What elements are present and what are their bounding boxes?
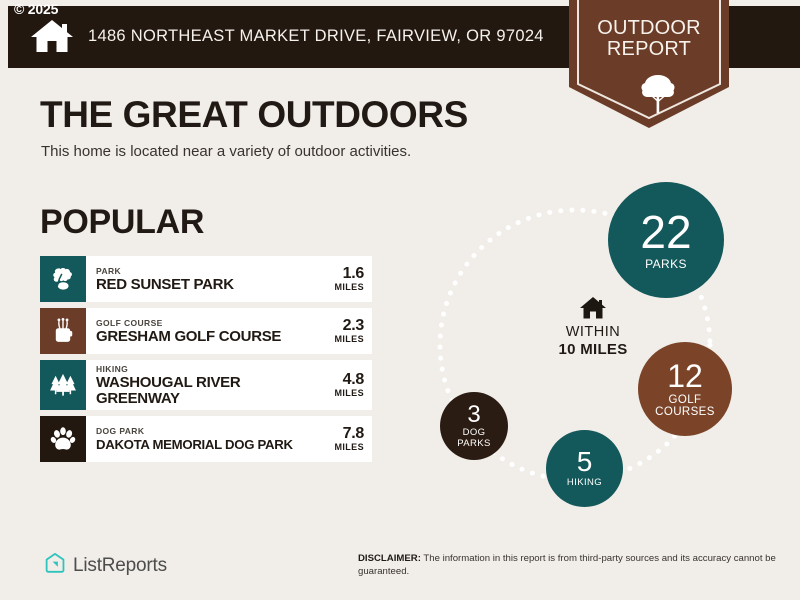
golf-bag-icon	[40, 308, 86, 354]
paw-print-icon	[40, 416, 86, 462]
outdoor-report-page: © 2025 1486 NORTHEAST MARKET DRIVE, FAIR…	[0, 0, 800, 600]
bubble-label: DOG PARKS	[457, 428, 491, 449]
list-item-distance: 4.8 MILES	[314, 360, 372, 410]
bubble-count: 22	[640, 209, 691, 255]
bubble-parks[interactable]: 22 PARKS	[608, 182, 724, 298]
list-item-distance: 1.6 MILES	[314, 256, 372, 302]
diagram-center-label: WITHIN 10 MILES	[528, 296, 658, 358]
badge-title-line1: OUTDOOR	[569, 18, 729, 39]
listreports-logo-icon	[44, 552, 66, 579]
property-address: 1486 NORTHEAST MARKET DRIVE, FAIRVIEW, O…	[88, 27, 544, 46]
house-icon	[579, 296, 607, 320]
bubble-label-line1: DOG	[457, 428, 491, 438]
distance-value: 4.8	[343, 371, 364, 388]
bubble-hiking[interactable]: 5 HIKING	[546, 430, 623, 507]
park-icon	[40, 256, 86, 302]
list-item-category: DOG PARK	[96, 426, 314, 437]
distance-unit: MILES	[334, 282, 364, 293]
distance-value: 7.8	[343, 425, 364, 442]
listreports-logo[interactable]: ListReports	[44, 552, 167, 579]
bubble-label: PARKS	[645, 258, 687, 271]
disclaimer: DISCLAIMER: The information in this repo…	[358, 553, 778, 578]
popular-list: PARK RED SUNSET PARK 1.6 MILES	[40, 256, 372, 468]
bubble-count: 12	[667, 360, 703, 392]
bubble-count: 5	[577, 448, 593, 476]
list-item-text: HIKING WASHOUGAL RIVER GREENWAY	[86, 360, 314, 410]
distance-value: 2.3	[343, 317, 364, 334]
distance-unit: MILES	[334, 334, 364, 345]
list-item[interactable]: DOG PARK DAKOTA MEMORIAL DOG PARK 7.8 MI…	[40, 416, 372, 462]
list-item-text: GOLF COURSE GRESHAM GOLF COURSE	[86, 308, 314, 354]
pine-trees-icon	[40, 360, 86, 410]
listreports-logo-text: ListReports	[73, 555, 167, 577]
bubble-dog-parks[interactable]: 3 DOG PARKS	[440, 392, 508, 460]
bubble-label-line2: PARKS	[457, 439, 491, 449]
distance-unit: MILES	[334, 388, 364, 399]
list-item-name: GRESHAM GOLF COURSE	[96, 329, 314, 345]
list-item[interactable]: PARK RED SUNSET PARK 1.6 MILES	[40, 256, 372, 302]
distance-value: 1.6	[343, 265, 364, 282]
tree-icon	[640, 74, 676, 114]
page-title: THE GREAT OUTDOORS	[40, 94, 468, 136]
disclaimer-label: DISCLAIMER:	[358, 553, 421, 564]
badge-title-line2: REPORT	[569, 39, 729, 60]
house-icon	[30, 18, 74, 54]
badge-title: OUTDOOR REPORT	[569, 18, 729, 60]
bubble-label: HIKING	[567, 478, 602, 488]
center-label-line2: 10 MILES	[528, 341, 658, 358]
list-item-distance: 7.8 MILES	[314, 416, 372, 462]
within-10-miles-diagram: 22 PARKS 12 GOLF COURSES 5 HIKING 3 DOG …	[420, 165, 790, 520]
section-title-popular: POPULAR	[40, 203, 204, 242]
list-item-name: DAKOTA MEMORIAL DOG PARK	[96, 437, 314, 453]
bubble-label: GOLF COURSES	[655, 394, 715, 419]
list-item[interactable]: HIKING WASHOUGAL RIVER GREENWAY 4.8 MILE…	[40, 360, 372, 410]
list-item-name: RED SUNSET PARK	[96, 277, 314, 293]
distance-unit: MILES	[334, 442, 364, 453]
page-subtitle: This home is located near a variety of o…	[41, 143, 411, 160]
disclaimer-text: The information in this report is from t…	[358, 553, 776, 577]
list-item-text: PARK RED SUNSET PARK	[86, 256, 314, 302]
center-label-line1: WITHIN	[528, 324, 658, 341]
bubble-label-line1: GOLF	[655, 394, 715, 406]
bubble-label-line2: COURSES	[655, 406, 715, 418]
list-item-name: WASHOUGAL RIVER GREENWAY	[96, 375, 314, 406]
list-item-text: DOG PARK DAKOTA MEMORIAL DOG PARK	[86, 416, 314, 462]
list-item[interactable]: GOLF COURSE GRESHAM GOLF COURSE 2.3 MILE…	[40, 308, 372, 354]
bubble-count: 3	[467, 403, 480, 427]
list-item-distance: 2.3 MILES	[314, 308, 372, 354]
copyright-text: © 2025	[14, 2, 58, 16]
